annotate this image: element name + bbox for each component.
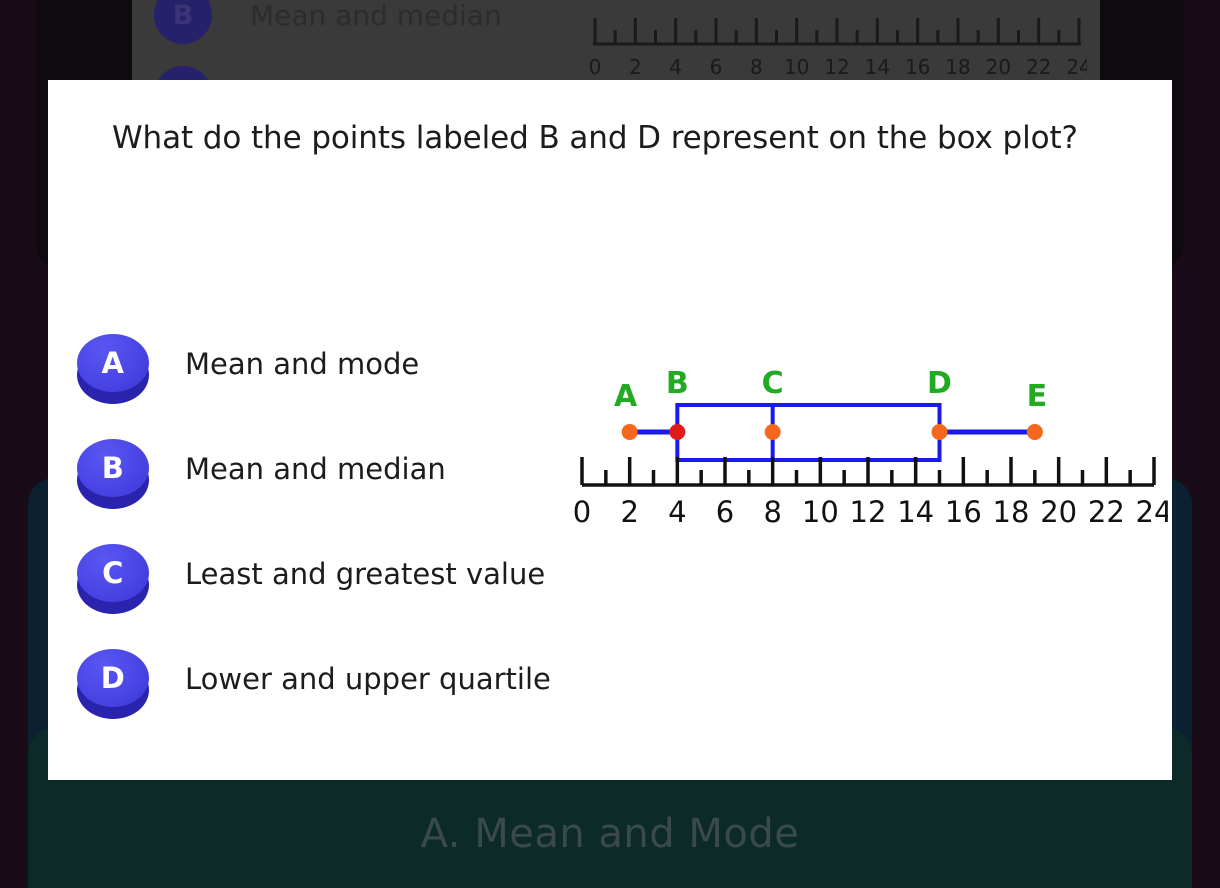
- answer-option-c[interactable]: CLeast and greatest value: [70, 542, 610, 647]
- box-plot-svg: ABCDE024681012141618202224: [568, 360, 1168, 580]
- axis-tick-label: 12: [850, 495, 887, 529]
- answer-option-b[interactable]: BMean and median: [70, 437, 610, 542]
- ghost-axis-svg: 024681012141618202224: [587, 2, 1087, 80]
- badge-letter: B: [77, 439, 149, 497]
- point-label-c: C: [762, 366, 784, 401]
- svg-text:22: 22: [1026, 55, 1051, 79]
- screen-root: B Mean and median C 02468101214161820222…: [0, 0, 1220, 888]
- axis-tick-label: 8: [763, 495, 781, 529]
- axis-tick-label: 2: [620, 495, 638, 529]
- answer-options-list: AMean and modeBMean and medianCLeast and…: [70, 332, 610, 752]
- ghost-option-badge-b: B: [154, 0, 212, 44]
- data-point-a[interactable]: [622, 424, 638, 440]
- point-label-d: D: [927, 366, 952, 401]
- data-point-d[interactable]: [932, 424, 948, 440]
- bottom-answer-text: A. Mean and Mode: [421, 811, 800, 857]
- data-point-e[interactable]: [1027, 424, 1043, 440]
- ghost-option-label-b: Mean and median: [250, 0, 502, 32]
- dimmed-background-card: B Mean and median C 02468101214161820222…: [132, 0, 1100, 80]
- svg-text:20: 20: [986, 55, 1011, 79]
- svg-text:10: 10: [784, 55, 809, 79]
- option-label-d: Lower and upper quartile: [185, 647, 551, 694]
- svg-text:14: 14: [865, 55, 890, 79]
- answer-option-d[interactable]: DLower and upper quartile: [70, 647, 610, 752]
- option-badge-b[interactable]: B: [73, 437, 149, 503]
- option-label-a: Mean and mode: [185, 332, 419, 379]
- axis-tick-label: 6: [716, 495, 734, 529]
- ghost-axis: 024681012141618202224: [587, 2, 1087, 80]
- box-plot-figure: ABCDE024681012141618202224: [568, 360, 1168, 580]
- bottom-answer-bar[interactable]: A. Mean and Mode: [28, 780, 1192, 888]
- axis-tick-label: 22: [1088, 495, 1125, 529]
- axis-tick-label: 10: [802, 495, 839, 529]
- svg-text:8: 8: [750, 55, 763, 79]
- axis-tick-label: 4: [668, 495, 686, 529]
- point-label-b: B: [666, 366, 689, 401]
- ghost-option-badge-c: C: [154, 66, 212, 80]
- axis-tick-label: 16: [945, 495, 982, 529]
- svg-text:4: 4: [669, 55, 682, 79]
- badge-letter: C: [77, 544, 149, 602]
- svg-text:6: 6: [710, 55, 723, 79]
- svg-text:12: 12: [824, 55, 849, 79]
- question-text: What do the points labeled B and D repre…: [112, 116, 1092, 160]
- svg-text:16: 16: [905, 55, 930, 79]
- point-label-e: E: [1027, 379, 1048, 414]
- axis-tick-label: 18: [993, 495, 1030, 529]
- svg-text:0: 0: [589, 55, 602, 79]
- answer-option-a[interactable]: AMean and mode: [70, 332, 610, 437]
- option-label-c: Least and greatest value: [185, 542, 545, 589]
- svg-text:24: 24: [1066, 55, 1087, 79]
- badge-letter: D: [77, 649, 149, 707]
- point-label-a: A: [614, 379, 638, 414]
- axis-tick-label: 20: [1040, 495, 1077, 529]
- option-badge-d[interactable]: D: [73, 647, 149, 713]
- axis-tick-label: 14: [897, 495, 934, 529]
- data-point-c[interactable]: [765, 424, 781, 440]
- option-label-b: Mean and median: [185, 437, 446, 484]
- badge-letter: A: [77, 334, 149, 392]
- svg-text:2: 2: [629, 55, 642, 79]
- svg-text:18: 18: [945, 55, 970, 79]
- option-badge-c[interactable]: C: [73, 542, 149, 608]
- axis-tick-label: 24: [1136, 495, 1168, 529]
- option-badge-a[interactable]: A: [73, 332, 149, 398]
- box-rect: [677, 405, 939, 460]
- data-point-b[interactable]: [669, 424, 685, 440]
- axis-tick-label: 0: [573, 495, 591, 529]
- question-card: What do the points labeled B and D repre…: [48, 80, 1172, 780]
